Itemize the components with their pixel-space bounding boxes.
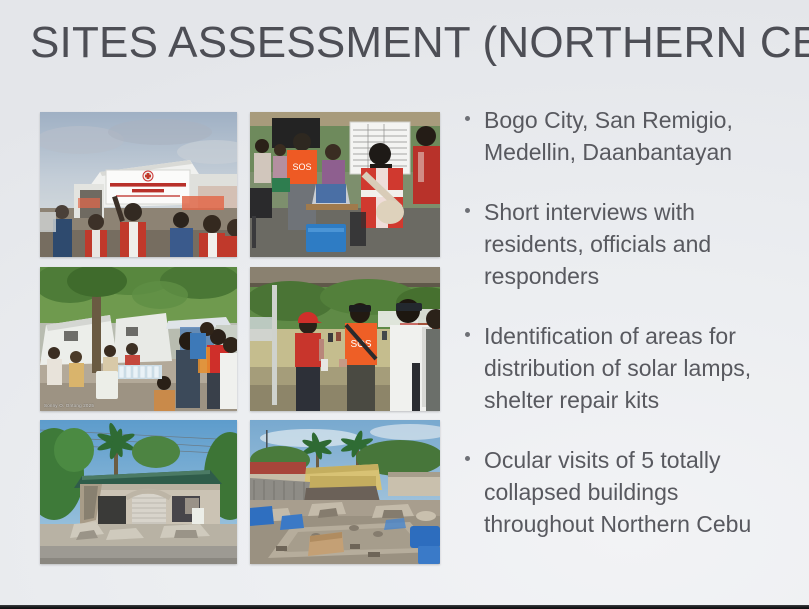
list-item: Bogo City, San Remigio, Medellin, Daanba… — [462, 104, 792, 168]
photo-collapsed-structure[interactable] — [250, 420, 440, 564]
photo-evacuation-tents-image — [40, 267, 237, 411]
page-title: SITES ASSESSMENT (NORTHERN CEBU) — [30, 18, 790, 68]
photo-field-interview[interactable]: SOS — [250, 267, 440, 411]
bullet-dot-icon — [465, 332, 470, 337]
bullet-text: Ocular visits of 5 totally collapsed bui… — [484, 447, 751, 537]
photo-red-cross-medical-tent-image — [40, 112, 237, 257]
photo-field-interview-image: SOS — [250, 267, 440, 411]
bullet-text: Identification of areas for distribution… — [484, 323, 751, 413]
presentation-slide: SITES ASSESSMENT (NORTHERN CEBU) — [0, 0, 809, 609]
list-item: Ocular visits of 5 totally collapsed bui… — [462, 444, 792, 540]
photo-red-cross-medical-tent[interactable] — [40, 112, 237, 257]
list-item: Short interviews with residents, officia… — [462, 196, 792, 292]
slide-bottom-rule — [0, 605, 809, 609]
photo-damaged-building[interactable] — [40, 420, 237, 564]
photo-collapsed-structure-image — [250, 420, 440, 564]
list-item: Identification of areas for distribution… — [462, 320, 792, 416]
bullet-text: Bogo City, San Remigio, Medellin, Daanba… — [484, 107, 733, 165]
photo-damaged-building-image — [40, 420, 237, 564]
bullet-dot-icon — [465, 208, 470, 213]
photo-watermark: Sonny O. Ontong 2025 — [44, 403, 94, 408]
photo-grid: SOS — [40, 112, 440, 564]
svg-text:SOS: SOS — [292, 162, 311, 172]
photo-coordination-desk[interactable]: SOS — [250, 112, 440, 257]
photo-evacuation-tents[interactable]: Sonny O. Ontong 2025 — [40, 267, 237, 411]
bullet-dot-icon — [465, 116, 470, 121]
photo-coordination-desk-image: SOS — [250, 112, 440, 257]
bullet-list: Bogo City, San Remigio, Medellin, Daanba… — [462, 104, 792, 568]
bullet-text: Short interviews with residents, officia… — [484, 199, 711, 289]
bullet-dot-icon — [465, 456, 470, 461]
